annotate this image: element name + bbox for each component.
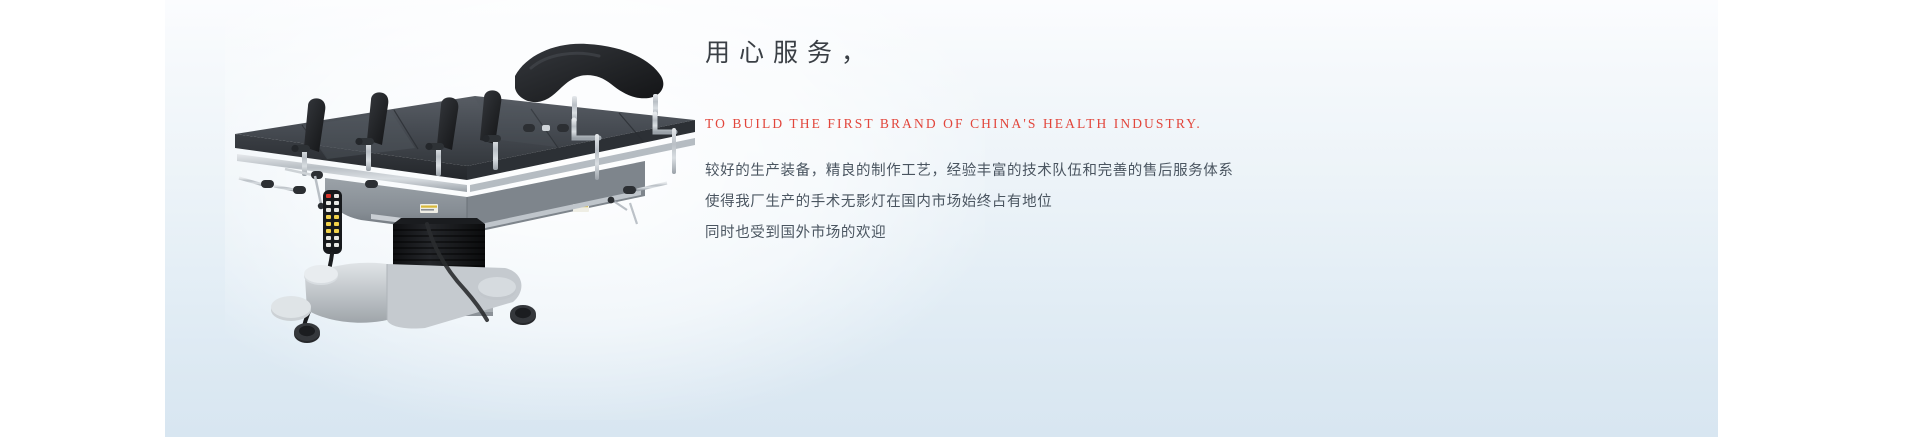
- banner-text-block: 用心服务， TO BUILD THE FIRST BRAND OF CHINA'…: [705, 36, 1325, 249]
- warning-label: [420, 204, 438, 213]
- banner-tagline: TO BUILD THE FIRST BRAND OF CHINA'S HEAL…: [705, 114, 1325, 134]
- operating-table-image: [175, 28, 715, 358]
- banner-panel: 用心服务， TO BUILD THE FIRST BRAND OF CHINA'…: [165, 0, 1718, 437]
- banner-body-line-3: 同时也受到国外市场的欢迎: [705, 218, 1325, 249]
- banner-body: 较好的生产装备，精良的制作工艺，经验丰富的技术队伍和完善的售后服务体系 使得我厂…: [705, 156, 1325, 249]
- telescopic-column: [393, 218, 485, 272]
- banner-body-line-1: 较好的生产装备，精良的制作工艺，经验丰富的技术队伍和完善的售后服务体系: [705, 156, 1325, 187]
- banner-headline: 用心服务，: [705, 36, 1325, 70]
- banner-root: 用心服务， TO BUILD THE FIRST BRAND OF CHINA'…: [0, 0, 1920, 437]
- banner-body-line-2: 使得我厂生产的手术无影灯在国内市场始终占有地位: [705, 187, 1325, 218]
